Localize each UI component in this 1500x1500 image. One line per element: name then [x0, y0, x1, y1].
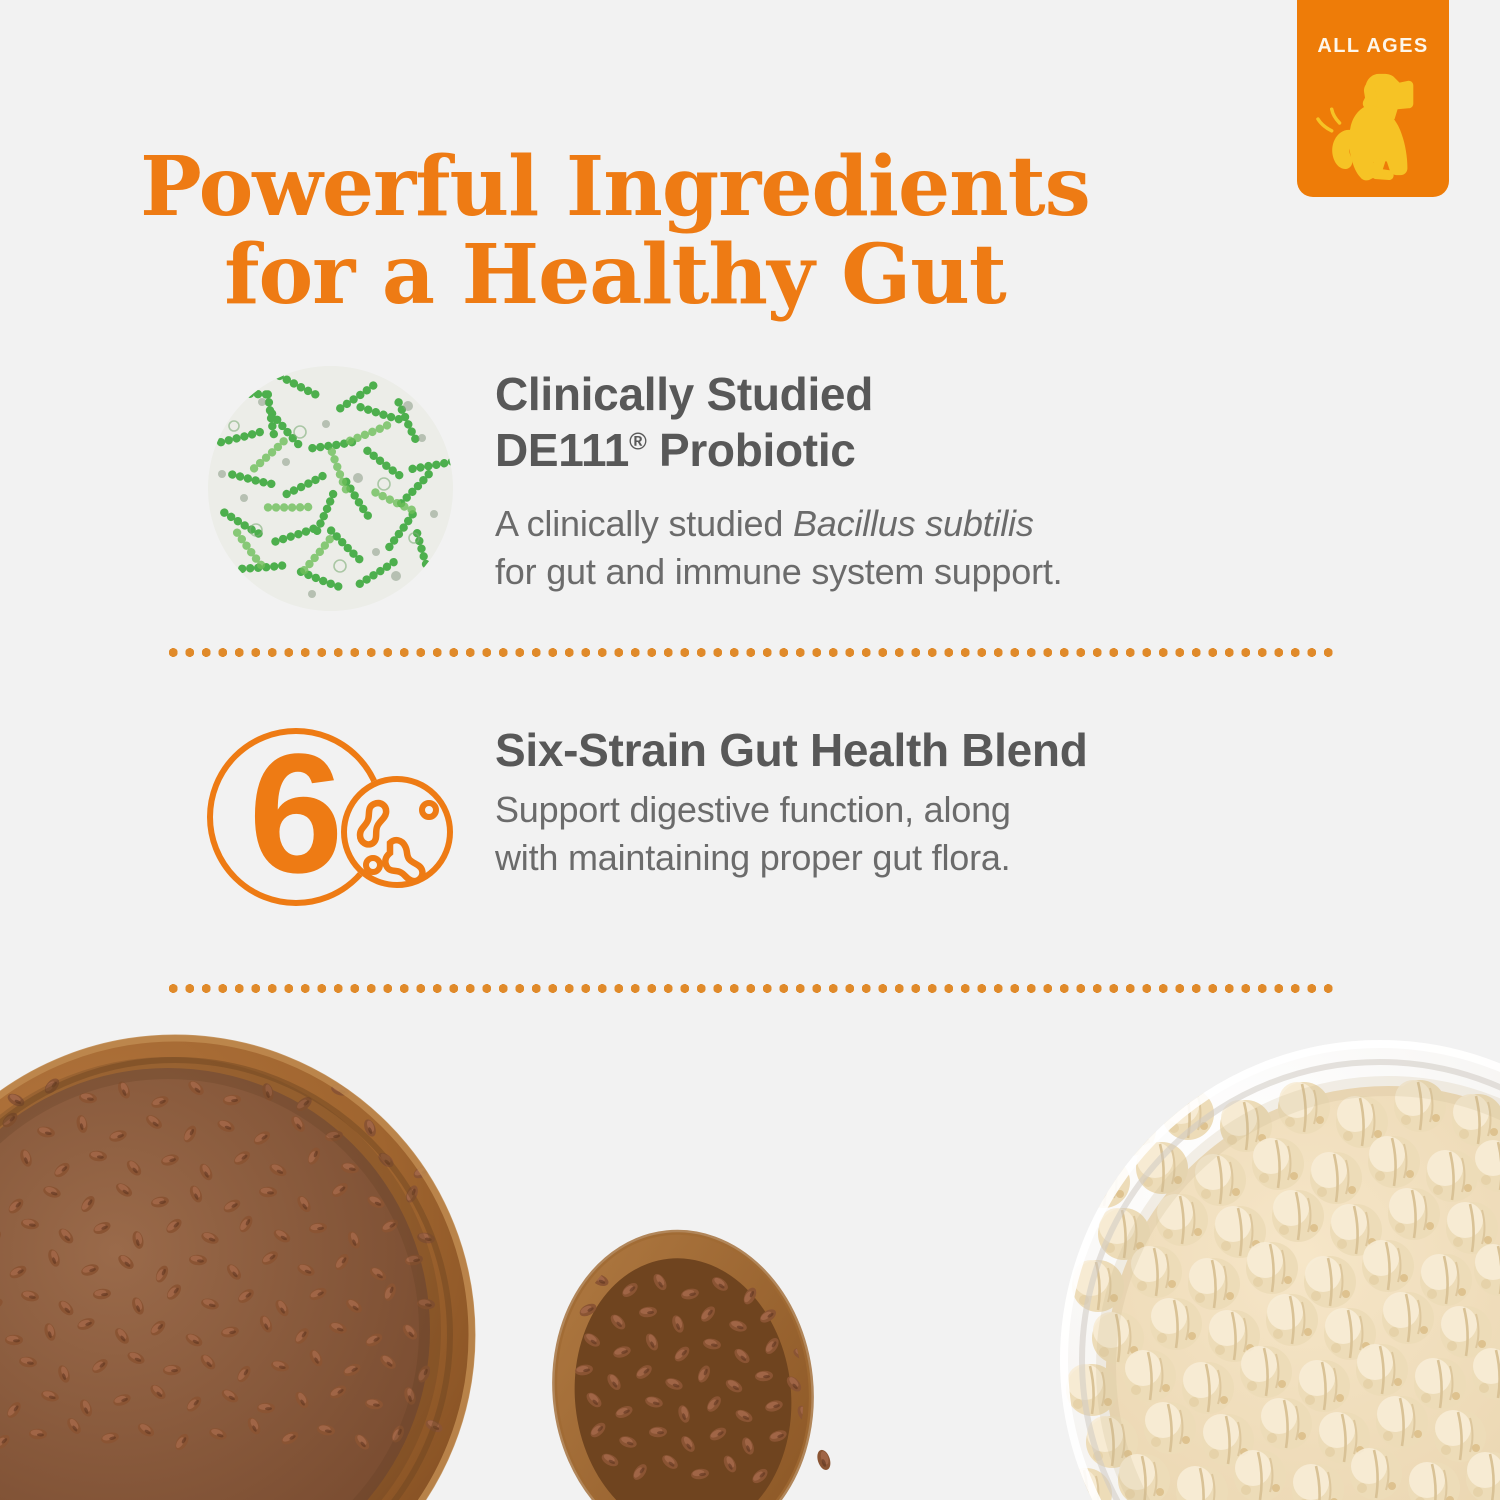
feature-2-icon-column: 6: [165, 718, 495, 912]
feature-1-title-line-1: Clinically Studied: [495, 366, 1335, 422]
feature-2-title-line-1: Six-Strain Gut Health Blend: [495, 722, 1335, 778]
feature-1-desc-line-2: for gut and immune system support.: [495, 548, 1335, 596]
infographic-page: ALL AGES Powerful Ingredients: [0, 0, 1500, 1500]
page-title: Powerful Ingredients for a Healthy Gut: [0, 143, 1230, 320]
feature-1-text-column: Clinically Studied DE111® Probiotic A cl…: [495, 362, 1335, 595]
title-line-1: Powerful Ingredients: [140, 139, 1090, 235]
feature-1-title-line-2: DE111® Probiotic: [495, 422, 1335, 478]
sitting-dog-icon: [1314, 62, 1432, 182]
registered-mark: ®: [629, 429, 646, 456]
badge-label: ALL AGES: [1317, 36, 1428, 56]
species-name: Bacillus subtilis: [793, 503, 1034, 544]
all-ages-badge: ALL AGES: [1297, 0, 1449, 197]
feature-2-desc-line-1: Support digestive function, along: [495, 786, 1335, 834]
feature-clinically-studied: Clinically Studied DE111® Probiotic A cl…: [165, 362, 1335, 611]
divider-1: [165, 648, 1337, 657]
divider-2: [165, 984, 1337, 993]
feature-1-icon-column: [165, 362, 495, 611]
de111-text: DE111: [495, 424, 629, 476]
feature-1-title: Clinically Studied DE111® Probiotic: [495, 366, 1335, 478]
six-numeral: 6: [249, 722, 344, 909]
feature-2-desc-line-2: with maintaining proper gut flora.: [495, 834, 1335, 882]
six-strain-blend-icon: 6: [204, 722, 456, 912]
feature-1-description: A clinically studied Bacillus subtilis f…: [495, 500, 1335, 595]
feature-six-strain-blend: 6 Six-Strain Gut He: [165, 718, 1335, 912]
bacteria-microscopy-icon: [208, 366, 453, 611]
feature-2-title: Six-Strain Gut Health Blend: [495, 722, 1335, 778]
feature-2-description: Support digestive function, along with m…: [495, 786, 1335, 881]
feature-2-text-column: Six-Strain Gut Health Blend Support dige…: [495, 718, 1335, 881]
ingredient-photos: [0, 1030, 1500, 1500]
feature-1-desc-line-1: A clinically studied Bacillus subtilis: [495, 500, 1335, 548]
title-line-2: for a Healthy Gut: [0, 231, 1230, 320]
probiotic-text: Probiotic: [646, 424, 855, 476]
desc-prefix: A clinically studied: [495, 503, 793, 544]
